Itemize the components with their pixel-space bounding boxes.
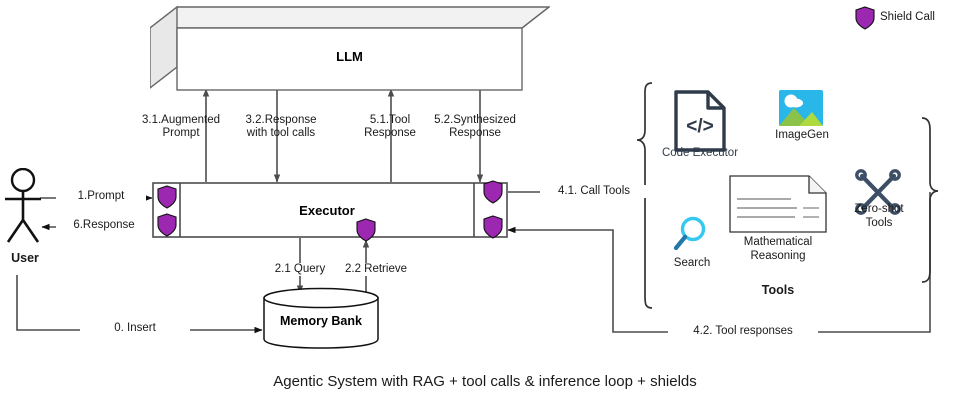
edge-label-response: 6.Response	[56, 219, 152, 232]
llm-node[interactable]: LLM	[150, 5, 550, 91]
user-label: User	[2, 252, 48, 265]
tool-label-search: Search	[660, 257, 724, 270]
edge-label-prompt: 1.Prompt	[56, 190, 146, 203]
memory-bank-node[interactable]: Memory Bank	[262, 287, 380, 350]
svg-text:</>: </>	[686, 116, 713, 137]
tools-right-brace	[922, 118, 938, 282]
tool-label-imagegen: ImageGen	[766, 129, 838, 142]
tool-label-mathematical-reasoning: Mathematical Reasoning	[722, 235, 834, 263]
image-icon	[779, 90, 823, 126]
tool-mathematical-reasoning[interactable]	[729, 175, 827, 233]
edge-label-insert: 0. Insert	[80, 322, 190, 335]
edge-label-tool-response: 5.1.Tool Response	[352, 114, 428, 140]
edge-label-augmented-prompt: 3.1.Augmented Prompt	[140, 114, 222, 140]
tool-label-code-executor: Code Executor	[652, 147, 748, 160]
llm-label: LLM	[177, 49, 522, 64]
diagram-canvas: LLM 3.1.Augmented Prompt 3.2.Response wi…	[0, 0, 970, 411]
legend-label-shield-call: Shield Call	[880, 11, 966, 24]
edge-label-query: 2.1 Query	[266, 263, 334, 276]
shield-icon-tool-call[interactable]	[483, 180, 503, 204]
edge-label-response-with-tool-calls: 3.2.Response with tool calls	[236, 114, 326, 140]
shield-icon-tool-response[interactable]	[483, 215, 503, 239]
shield-icon-legend	[855, 6, 875, 30]
tool-label-zero-shot-tools: Zero-shot Tools	[840, 202, 918, 230]
tool-search[interactable]	[671, 215, 711, 255]
code-document-icon: </>	[672, 90, 728, 152]
tools-group-label: Tools	[733, 284, 823, 297]
edge-label-synthesized-response: 5.2.Synthesized Response	[428, 114, 522, 140]
llm-box-shape	[150, 5, 550, 91]
magnifier-icon	[671, 215, 711, 255]
tool-imagegen[interactable]	[779, 90, 823, 126]
edge-label-retrieve: 2.2 Retrieve	[336, 263, 416, 276]
memory-bank-label: Memory Bank	[262, 314, 380, 328]
formula-document-icon	[729, 175, 827, 233]
shield-icon-input-prompt[interactable]	[157, 185, 177, 209]
tool-code-executor[interactable]: </>	[672, 90, 728, 152]
edge-label-tool-responses: 4.2. Tool responses	[668, 325, 818, 338]
edge-label-call-tools: 4.1. Call Tools	[540, 185, 648, 198]
user-actor-icon[interactable]	[2, 168, 48, 248]
diagram-caption: Agentic System with RAG + tool calls & i…	[0, 375, 970, 388]
shield-icon-output-response[interactable]	[157, 213, 177, 237]
executor-label: Executor	[180, 203, 474, 218]
executor-node[interactable]: Executor	[152, 182, 508, 238]
shield-icon-memory-retrieve[interactable]	[356, 218, 376, 242]
